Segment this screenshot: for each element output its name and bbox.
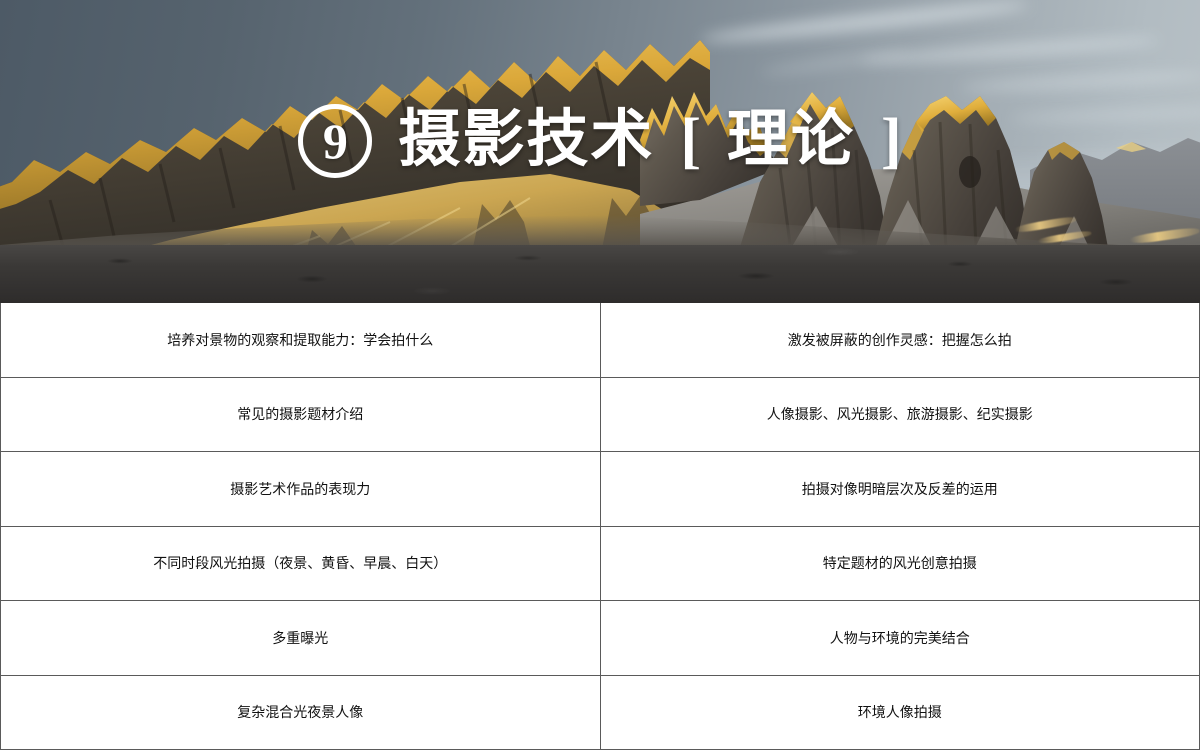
table-row: 不同时段风光拍摄（夜景、黄昏、早晨、白天） 特定题材的风光创意拍摄 (1, 526, 1200, 601)
topics-table: 培养对景物的观察和提取能力：学会拍什么 激发被屏蔽的创作灵感：把握怎么拍 常见的… (0, 303, 1200, 750)
topic-cell-right: 人物与环境的完美结合 (600, 601, 1200, 676)
table-row: 摄影艺术作品的表现力 拍摄对像明暗层次及反差的运用 (1, 452, 1200, 527)
table-row: 多重曝光 人物与环境的完美结合 (1, 601, 1200, 676)
slide-root: 9 摄影技术 [ 理论 ] 培养对景物的观察和提取能力：学会拍什么 激发被屏蔽的… (0, 0, 1200, 744)
table-row: 复杂混合光夜景人像 环境人像拍摄 (1, 675, 1200, 750)
topic-cell-left: 常见的摄影题材介绍 (1, 377, 601, 452)
topic-cell-right: 环境人像拍摄 (600, 675, 1200, 750)
mountain-photo (0, 0, 1200, 303)
table-row: 常见的摄影题材介绍 人像摄影、风光摄影、旅游摄影、纪实摄影 (1, 377, 1200, 452)
topic-cell-left: 培养对景物的观察和提取能力：学会拍什么 (1, 303, 601, 377)
topics-table-wrapper: 培养对景物的观察和提取能力：学会拍什么 激发被屏蔽的创作灵感：把握怎么拍 常见的… (0, 303, 1200, 750)
topic-cell-left: 不同时段风光拍摄（夜景、黄昏、早晨、白天） (1, 526, 601, 601)
topic-cell-right: 人像摄影、风光摄影、旅游摄影、纪实摄影 (600, 377, 1200, 452)
hero-banner: 9 摄影技术 [ 理论 ] (0, 0, 1200, 303)
topics-table-body: 培养对景物的观察和提取能力：学会拍什么 激发被屏蔽的创作灵感：把握怎么拍 常见的… (1, 303, 1200, 750)
table-row: 培养对景物的观察和提取能力：学会拍什么 激发被屏蔽的创作灵感：把握怎么拍 (1, 303, 1200, 377)
topic-cell-right: 拍摄对像明暗层次及反差的运用 (600, 452, 1200, 527)
topic-cell-right: 特定题材的风光创意拍摄 (600, 526, 1200, 601)
topic-cell-left: 复杂混合光夜景人像 (1, 675, 601, 750)
topic-cell-left: 摄影艺术作品的表现力 (1, 452, 601, 527)
topic-cell-right: 激发被屏蔽的创作灵感：把握怎么拍 (600, 303, 1200, 377)
topic-cell-left: 多重曝光 (1, 601, 601, 676)
foreground-texture (0, 243, 1200, 303)
